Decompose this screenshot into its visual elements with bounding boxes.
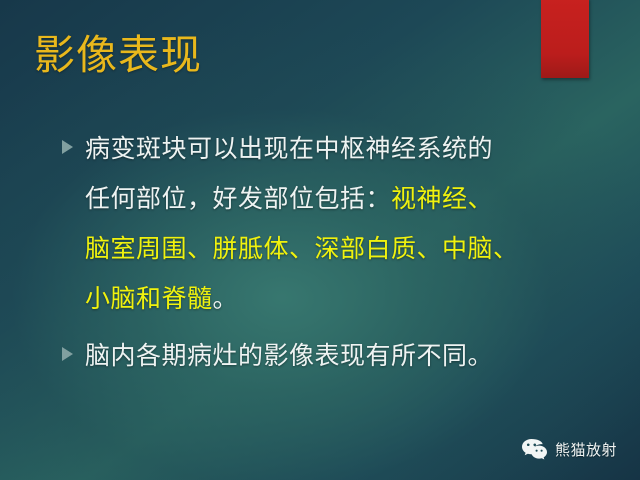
- bullet-paragraph-1: 病变斑块可以出现在中枢神经系统的 任何部位，好发部位包括：视神经、 脑室周围、胼…: [62, 124, 582, 324]
- bullet-1-line-4-seg-1-highlight: 小脑和脊髓: [85, 284, 213, 313]
- bullet-paragraph-2-text: 脑内各期病灶的影像表现有所不同。: [62, 331, 582, 381]
- bullet-1-line-2-seg-2-highlight: 视神经、: [391, 184, 493, 213]
- bullet-2-line-1-seg-1: 脑内各期病灶的影像表现有所不同。: [85, 341, 493, 370]
- triangle-bullet-icon: [62, 347, 73, 361]
- watermark-label: 熊猫放射: [555, 439, 617, 460]
- bullet-paragraph-2: 脑内各期病灶的影像表现有所不同。: [62, 331, 582, 381]
- red-decorative-block: [541, 0, 589, 78]
- watermark: 熊猫放射: [521, 438, 617, 461]
- slide-canvas: 影像表现 病变斑块可以出现在中枢神经系统的 任何部位，好发部位包括：视神经、 脑…: [0, 0, 640, 480]
- slide-body: 病变斑块可以出现在中枢神经系统的 任何部位，好发部位包括：视神经、 脑室周围、胼…: [62, 124, 582, 381]
- bullet-1-line-1: 病变斑块可以出现在中枢神经系统的: [85, 134, 493, 163]
- bullet-paragraph-1-text: 病变斑块可以出现在中枢神经系统的 任何部位，好发部位包括：视神经、 脑室周围、胼…: [62, 124, 582, 324]
- bullet-1-line-1-seg-1: 病变斑块可以出现在中枢神经系统的: [85, 134, 493, 163]
- bullet-1-line-3: 脑室周围、胼胝体、深部白质、中脑、: [85, 234, 519, 263]
- wechat-icon: [521, 438, 548, 461]
- page-title: 影像表现: [34, 30, 202, 80]
- bullet-1-line-2-seg-1: 任何部位，好发部位包括：: [85, 184, 391, 213]
- triangle-bullet-icon: [62, 140, 73, 154]
- bullet-1-line-4: 小脑和脊髓。: [85, 284, 238, 313]
- bullet-1-line-4-seg-2: 。: [213, 284, 239, 313]
- bullet-1-line-2: 任何部位，好发部位包括：视神经、: [85, 184, 493, 213]
- bullet-1-line-3-seg-1-highlight: 脑室周围、胼胝体、深部白质、中脑、: [85, 234, 519, 263]
